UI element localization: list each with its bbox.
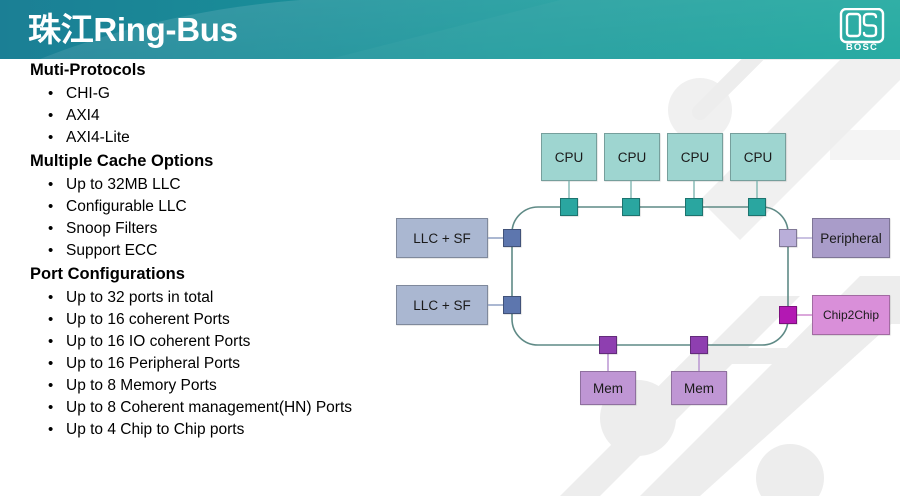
bullet-list-protocols: •CHI-G •AXI4 •AXI4-Lite: [0, 83, 430, 149]
bullet-icon: •: [48, 174, 53, 196]
mem-ring-node-2[interactable]: [690, 336, 708, 354]
bullet-icon: •: [48, 419, 53, 441]
list-item: •Snoop Filters: [66, 218, 430, 240]
ring-bus-diagram: CPU CPU CPU CPU LLC + SF LLC + SF Periph…: [380, 59, 900, 496]
list-item-label: Up to 8 Coherent management(HN) Ports: [66, 399, 352, 416]
cpu-ring-node-1[interactable]: [560, 198, 578, 216]
section-heading-cache: Multiple Cache Options: [30, 150, 430, 173]
mem-ring-node-1[interactable]: [599, 336, 617, 354]
list-item-label: Up to 16 coherent Ports: [66, 311, 230, 328]
list-item: •Support ECC: [66, 240, 430, 262]
section-heading-ports: Port Configurations: [30, 263, 430, 286]
bullet-list-cache: •Up to 32MB LLC •Configurable LLC •Snoop…: [0, 174, 430, 262]
page-header: 珠江Ring-Bus BOSC: [0, 0, 900, 59]
list-item: •Up to 8 Coherent management(HN) Ports: [66, 397, 430, 419]
list-item-label: Up to 16 IO coherent Ports: [66, 333, 250, 350]
list-item: •Up to 32MB LLC: [66, 174, 430, 196]
bullet-icon: •: [48, 240, 53, 262]
bullet-icon: •: [48, 127, 53, 149]
page-title: 珠江Ring-Bus: [28, 3, 238, 56]
list-item: •AXI4: [66, 105, 430, 127]
ring-topology-lines: [380, 59, 900, 496]
cpu-ring-node-2[interactable]: [622, 198, 640, 216]
bosc-logo-icon: BOSC: [838, 8, 886, 52]
bullet-icon: •: [48, 196, 53, 218]
list-item-label: AXI4-Lite: [66, 129, 130, 146]
list-item-label: Up to 8 Memory Ports: [66, 377, 217, 394]
list-item-label: AXI4: [66, 107, 100, 124]
bullet-icon: •: [48, 353, 53, 375]
list-item-label: Configurable LLC: [66, 198, 187, 215]
bullet-icon: •: [48, 375, 53, 397]
list-item: •Configurable LLC: [66, 196, 430, 218]
list-item: •AXI4-Lite: [66, 127, 430, 149]
svg-text:BOSC: BOSC: [846, 42, 878, 52]
feature-list-column: Muti-Protocols •CHI-G •AXI4 •AXI4-Lite M…: [0, 59, 430, 442]
cpu-ring-node-3[interactable]: [685, 198, 703, 216]
list-item-label: Up to 16 Peripheral Ports: [66, 355, 240, 372]
bullet-icon: •: [48, 287, 53, 309]
llc-ring-node-1[interactable]: [503, 229, 521, 247]
section-heading-protocols: Muti-Protocols: [30, 59, 430, 82]
list-item: •Up to 8 Memory Ports: [66, 375, 430, 397]
list-item: •Up to 16 Peripheral Ports: [66, 353, 430, 375]
list-item-label: Support ECC: [66, 242, 157, 259]
llc-ring-node-2[interactable]: [503, 296, 521, 314]
chip2chip-ring-node[interactable]: [779, 306, 797, 324]
list-item: •CHI-G: [66, 83, 430, 105]
cpu-ring-node-4[interactable]: [748, 198, 766, 216]
list-item: •Up to 16 IO coherent Ports: [66, 331, 430, 353]
bullet-icon: •: [48, 218, 53, 240]
bullet-icon: •: [48, 309, 53, 331]
list-item-label: Up to 32 ports in total: [66, 289, 213, 306]
bullet-icon: •: [48, 331, 53, 353]
bullet-icon: •: [48, 105, 53, 127]
list-item-label: Up to 32MB LLC: [66, 176, 181, 193]
list-item: •Up to 32 ports in total: [66, 287, 430, 309]
list-item: •Up to 16 coherent Ports: [66, 309, 430, 331]
list-item-label: CHI-G: [66, 85, 110, 102]
bullet-icon: •: [48, 397, 53, 419]
list-item-label: Snoop Filters: [66, 220, 157, 237]
list-item: •Up to 4 Chip to Chip ports: [66, 419, 430, 441]
peripheral-ring-node[interactable]: [779, 229, 797, 247]
bullet-icon: •: [48, 83, 53, 105]
list-item-label: Up to 4 Chip to Chip ports: [66, 421, 244, 438]
bullet-list-ports: •Up to 32 ports in total •Up to 16 coher…: [0, 287, 430, 441]
